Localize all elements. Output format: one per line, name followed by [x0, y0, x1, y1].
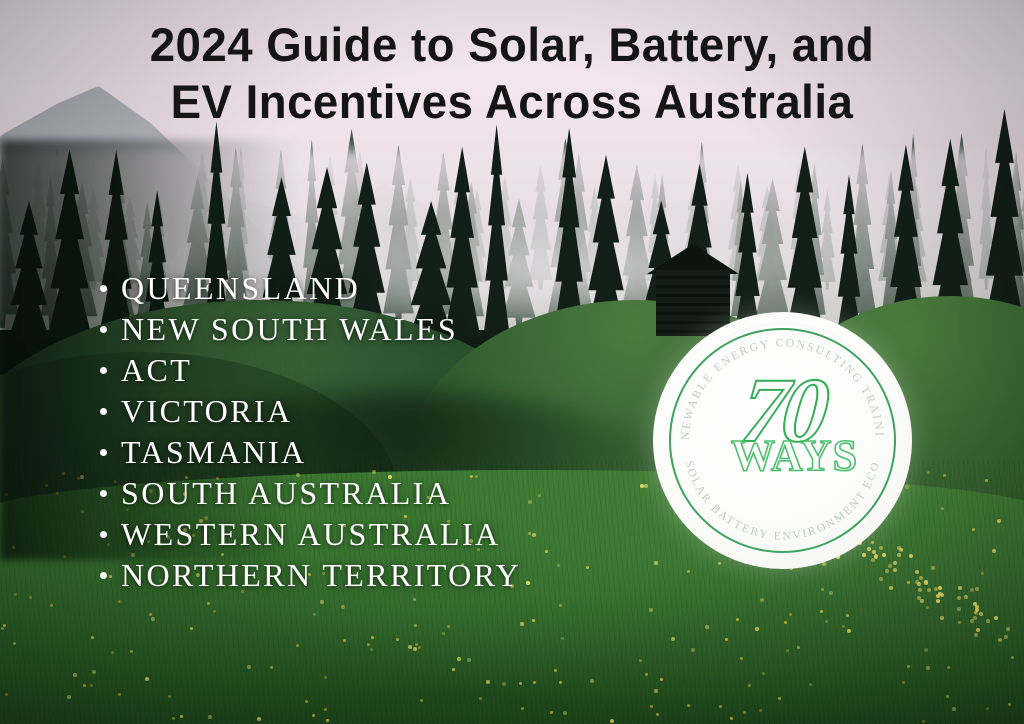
bullet-icon	[100, 572, 107, 579]
state-label: QUEENSLAND	[121, 270, 360, 307]
state-list-item: VICTORIA	[100, 391, 521, 432]
brand-logo-badge: RENEWABLE ENERGY CONSULTING TRAINING SOL…	[653, 312, 912, 569]
logo-word: WAYS	[665, 434, 924, 478]
bullet-icon	[100, 449, 107, 456]
state-list-item: WESTERN AUSTRALIA	[100, 514, 521, 555]
page-title: 2024 Guide to Solar, Battery, and EV Inc…	[15, 16, 1008, 130]
state-list-item: ACT	[100, 350, 521, 391]
state-list-item: QUEENSLAND	[100, 268, 521, 309]
poster-canvas: 2024 Guide to Solar, Battery, and EV Inc…	[0, 0, 1024, 724]
title-line-2: EV Incentives Across Australia	[15, 73, 1008, 130]
state-label: NORTHERN TERRITORY	[121, 557, 521, 594]
bullet-icon	[100, 326, 107, 333]
bullet-icon	[100, 285, 107, 292]
bullet-icon	[100, 490, 107, 497]
state-label: VICTORIA	[121, 393, 293, 430]
state-list: QUEENSLANDNEW SOUTH WALESACTVICTORIATASM…	[100, 268, 521, 596]
bullet-icon	[100, 408, 107, 415]
state-list-item: SOUTH AUSTRALIA	[100, 473, 521, 514]
state-label: SOUTH AUSTRALIA	[121, 475, 451, 512]
state-label: ACT	[121, 352, 192, 389]
state-list-item: NORTHERN TERRITORY	[100, 555, 521, 596]
state-list-item: TASMANIA	[100, 432, 521, 473]
state-label: NEW SOUTH WALES	[121, 311, 458, 348]
state-list-item: NEW SOUTH WALES	[100, 309, 521, 350]
title-line-1: 2024 Guide to Solar, Battery, and	[15, 16, 1008, 73]
bullet-icon	[100, 531, 107, 538]
bullet-icon	[100, 367, 107, 374]
state-label: TASMANIA	[121, 434, 307, 471]
state-label: WESTERN AUSTRALIA	[121, 516, 500, 553]
